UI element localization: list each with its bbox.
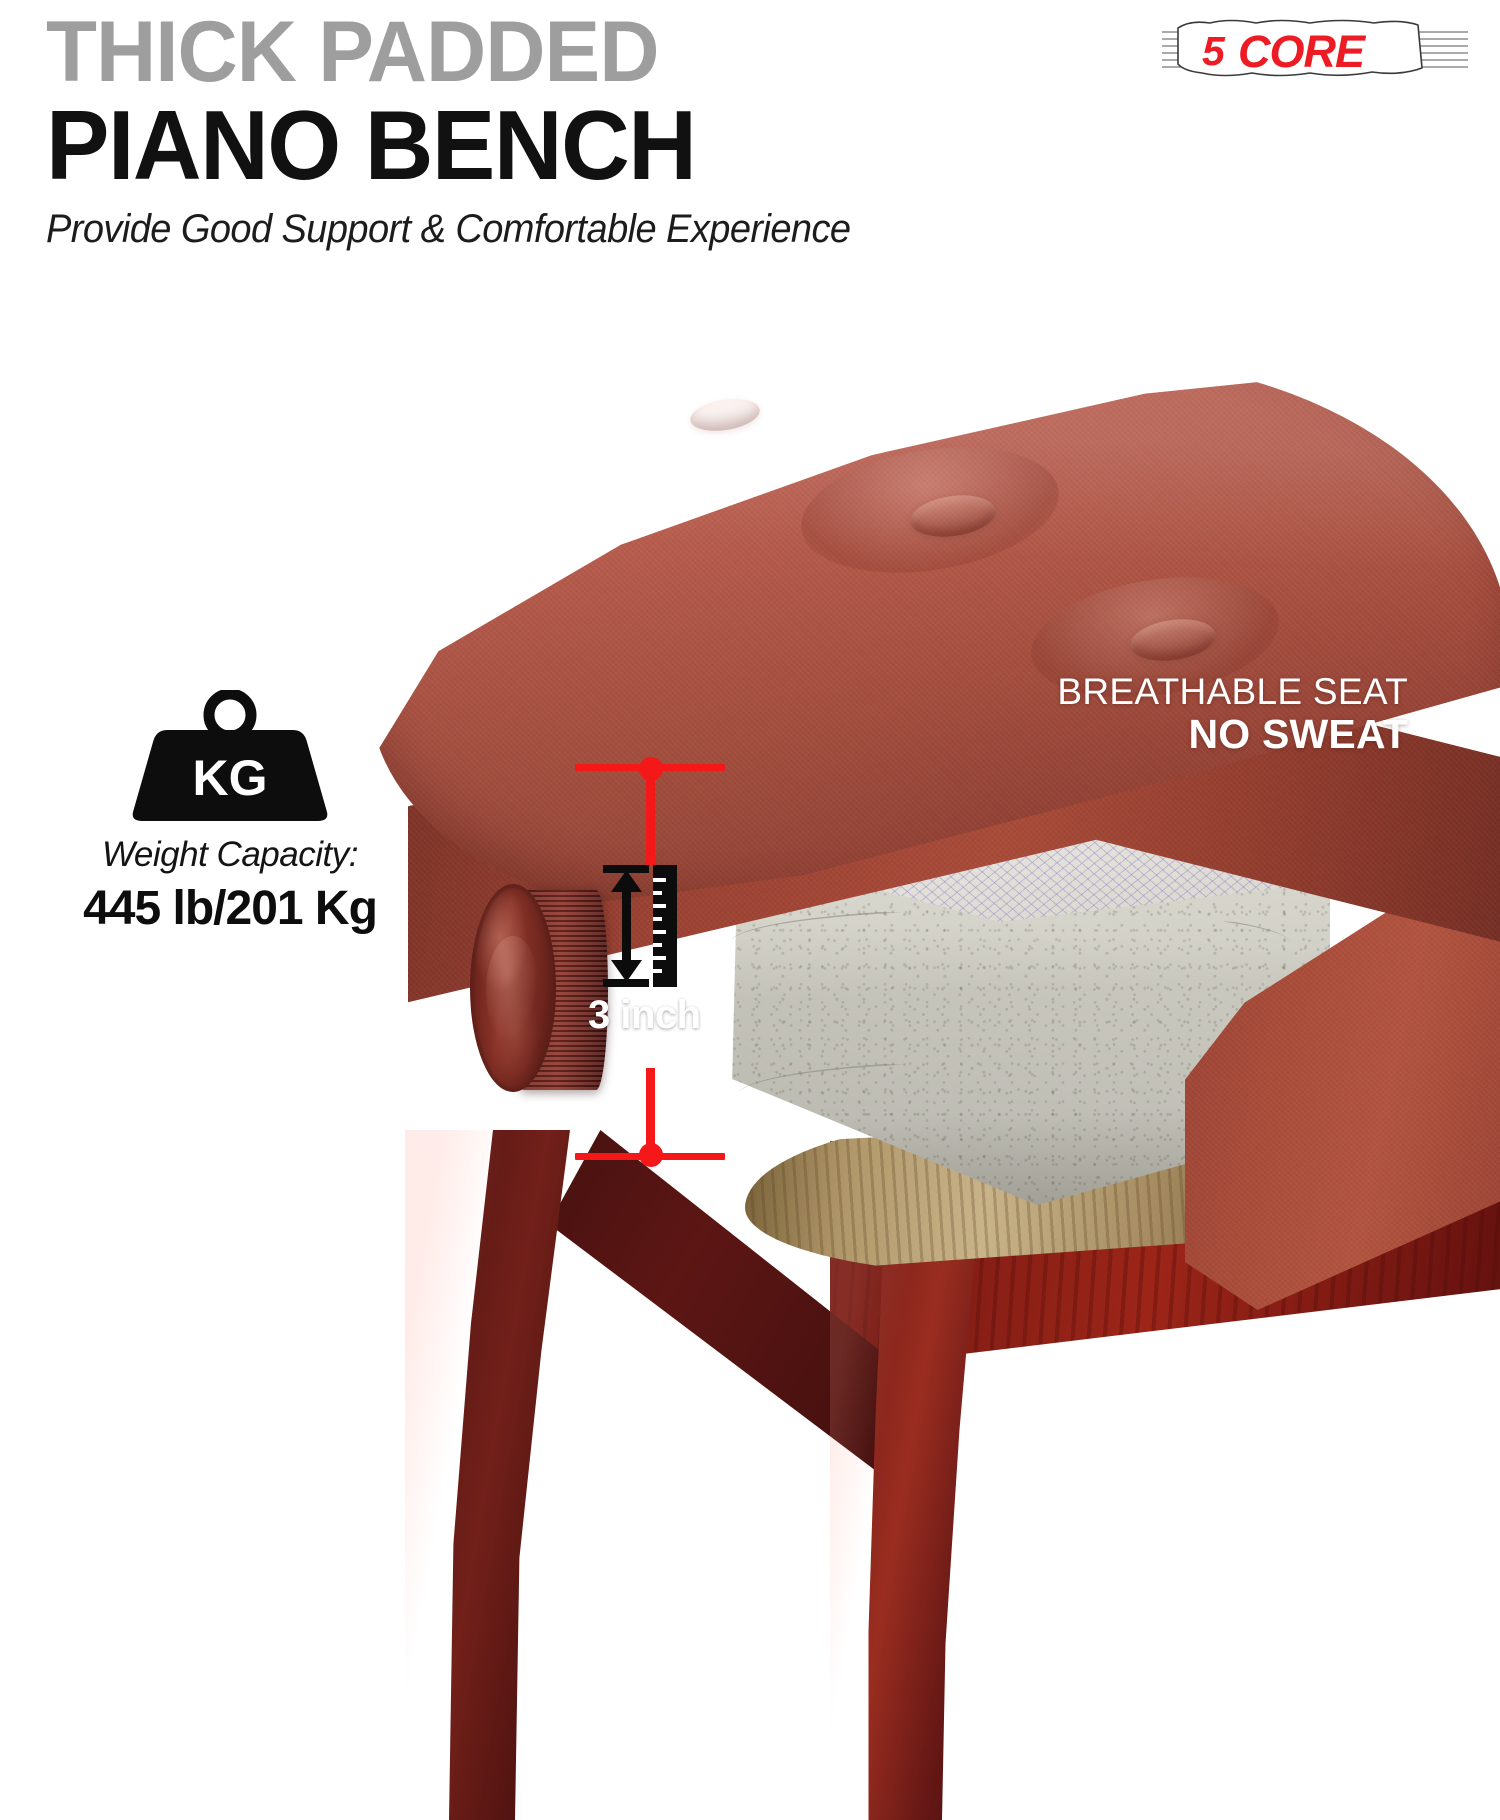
- bench-leg-right: [830, 1190, 1005, 1820]
- callout-line-2: NO SWEAT: [1008, 712, 1408, 757]
- piano-bench-photo: [330, 300, 1500, 1510]
- breathable-seat-callout: BREATHABLE SEAT NO SWEAT: [1008, 672, 1408, 757]
- headline-line-2: PIANO BENCH: [46, 96, 1094, 194]
- bench-leg-left: [405, 1130, 625, 1820]
- headline-block: THICK PADDED PIANO BENCH Provide Good Su…: [46, 10, 1126, 252]
- logo-text-core: CORE: [1238, 26, 1367, 77]
- height-adjustment-knob: [470, 880, 610, 1095]
- brand-logo: 5 CORE: [1160, 16, 1470, 86]
- headline-subtitle: Provide Good Support & Comfortable Exper…: [46, 206, 1072, 252]
- callout-line-1: BREATHABLE SEAT: [1008, 672, 1408, 712]
- logo-text-5: 5: [1202, 28, 1226, 74]
- headline-line-1: THICK PADDED: [46, 10, 1094, 94]
- kg-icon-label: KG: [193, 750, 268, 806]
- product-marketing-image: THICK PADDED PIANO BENCH Provide Good Su…: [0, 0, 1500, 1500]
- tuft-button: [688, 395, 762, 436]
